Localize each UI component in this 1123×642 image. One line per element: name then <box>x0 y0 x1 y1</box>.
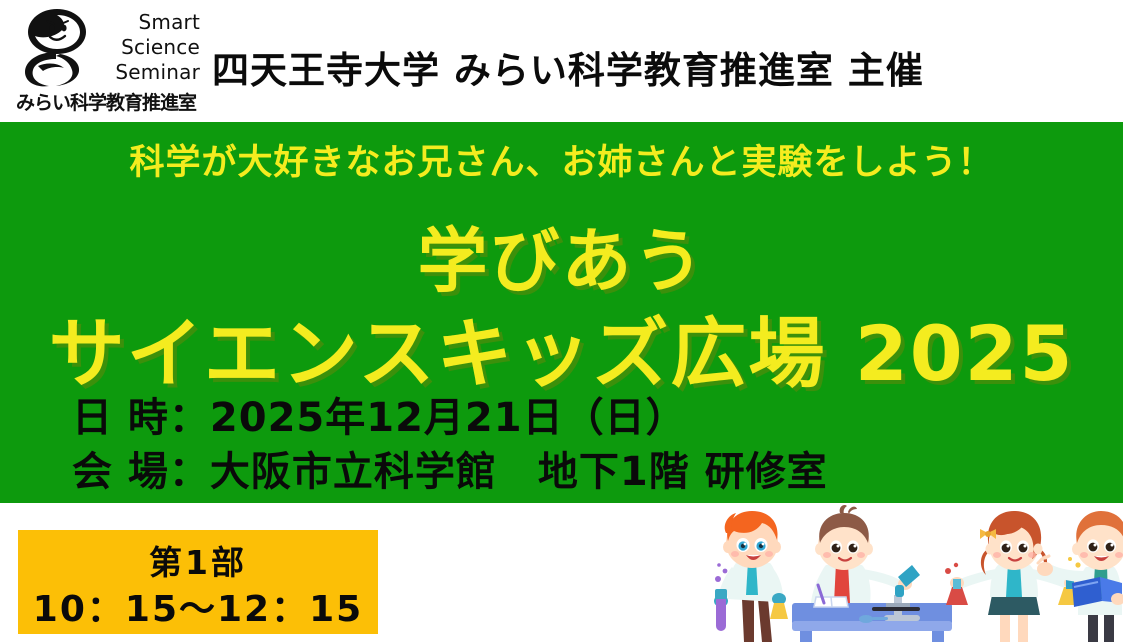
logo-subtitle: みらい科学教育推進室 <box>12 88 200 115</box>
logo-line-seminar: Seminar <box>115 60 200 84</box>
green-banner: 科学が大好きなお兄さん、お姉さんと実験をしよう！ 学びあう サイエンスキッズ広場… <box>0 122 1123 503</box>
kid-boy-orange-hair-test-tube <box>714 511 788 642</box>
footer-area: 第1部 10：15～12：15 <box>0 503 1123 642</box>
logo-line-smart: Smart <box>139 10 201 34</box>
session-part-time: 10：15～12：15 <box>18 580 378 632</box>
header-bar: Smart Science Seminar みらい科学教育推進室 四天王寺大学 … <box>0 0 1123 122</box>
event-venue-line: 会 場：大阪市立科学館 地下1階 研修室 <box>72 439 828 497</box>
poster-root: Smart Science Seminar みらい科学教育推進室 四天王寺大学 … <box>0 0 1123 642</box>
session-part-label: 第1部 <box>18 536 378 584</box>
smart-science-seminar-logo-icon <box>16 6 94 88</box>
logo-wordmark: Smart Science Seminar <box>96 10 200 84</box>
kid-boy-brown-hair-microscope <box>792 505 952 642</box>
tagline-text: 科学が大好きなお兄さん、お姉さんと実験をしよう！ <box>0 134 1123 185</box>
host-organization-title: 四天王寺大学 みらい科学教育推進室 主催 <box>212 40 1012 94</box>
event-title-line1: 学びあう <box>0 205 1123 306</box>
event-date-line: 日 時：2025年12月21日（日） <box>72 385 687 443</box>
science-kids-illustration <box>640 503 1123 642</box>
session-part-box: 第1部 10：15～12：15 <box>18 530 378 634</box>
logo-block: Smart Science Seminar みらい科学教育推進室 <box>8 4 200 116</box>
logo-line-science: Science <box>121 35 200 59</box>
